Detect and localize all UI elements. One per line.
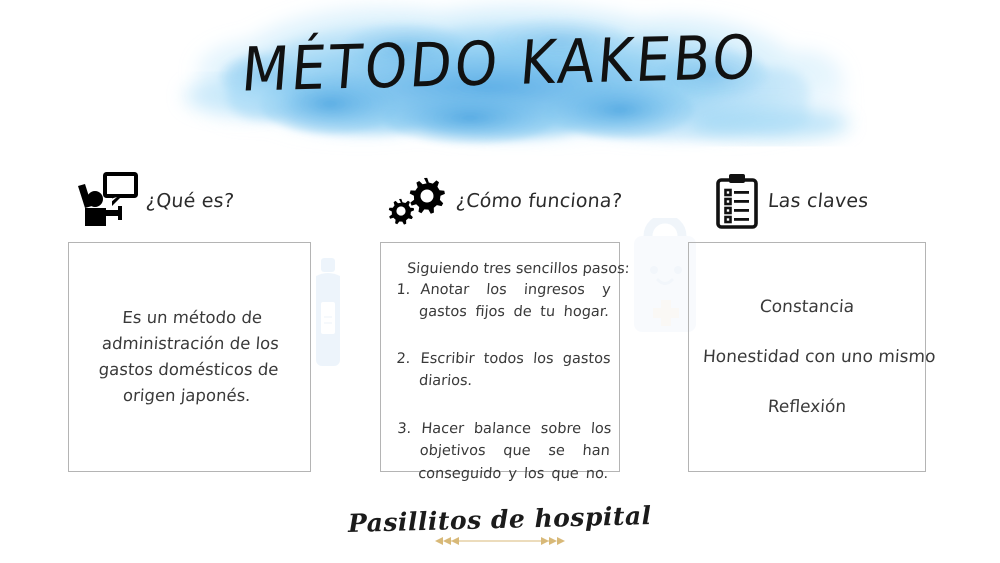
steps-list: Anotar los ingresos y gastos fijos de tu… <box>393 279 609 508</box>
logo-divider-ornament <box>0 535 1000 547</box>
brand-name: Pasillitos de hospital <box>348 501 652 538</box>
key-item: Reflexión <box>702 397 911 417</box>
key-item: Constancia <box>702 297 911 317</box>
header-banner: MÉTODO KAKEBO <box>0 0 1000 160</box>
column-3-heading: Las claves <box>767 190 869 212</box>
page-title-text: MÉTODO KAKEBO <box>239 22 761 105</box>
step-item: Escribir todos los gastos diarios. <box>391 348 612 415</box>
step-text: Anotar los ingresos y gastos fijos de tu… <box>417 279 612 346</box>
column-2-panel: Siguiendo tres sencillos pasos: Anotar l… <box>380 242 620 472</box>
column-2-heading: ¿Cómo funciona? <box>455 190 623 212</box>
key-item: Honestidad con uno mismo <box>702 347 911 367</box>
person-speech-bubble-icon <box>72 172 138 230</box>
column-las-claves: Las claves Constancia Honestidad con uno… <box>688 160 926 472</box>
column-1-heading: ¿Qué es? <box>145 190 235 212</box>
gold-flourish-icon <box>405 535 595 547</box>
column-1-header: ¿Qué es? <box>68 160 311 242</box>
infographic-page: { "header": { "title": "MÉTODO KAKEBO", … <box>0 0 1000 563</box>
column-que-es: ¿Qué es? Es un método de administración … <box>68 160 311 472</box>
clipboard-checklist-icon <box>714 173 760 229</box>
column-3-panel: Constancia Honestidad con uno mismo Refl… <box>688 242 926 472</box>
content-columns: ¿Qué es? Es un método de administración … <box>0 160 1000 490</box>
column-como-funciona: ¿Cómo funciona? Siguiendo tres sencillos… <box>380 160 620 472</box>
column-2-lead: Siguiendo tres sencillos pasos: <box>392 261 609 277</box>
column-1-body: Es un método de administración de los ga… <box>79 305 299 409</box>
column-1-panel: Es un método de administración de los ga… <box>68 242 311 472</box>
keys-list: Constancia Honestidad con uno mismo Refl… <box>703 297 911 417</box>
column-3-header: Las claves <box>688 160 926 242</box>
step-item: Hacer balance sobre los objetivos que se… <box>390 418 612 508</box>
step-text: Hacer balance sobre los objetivos que se… <box>416 418 612 508</box>
step-text: Escribir todos los gastos diarios. <box>417 348 612 415</box>
column-2-header: ¿Cómo funciona? <box>380 160 620 242</box>
footer-logo: Pasillitos de hospital <box>0 505 1000 547</box>
step-item: Anotar los ingresos y gastos fijos de tu… <box>391 279 612 346</box>
gears-icon <box>382 172 448 230</box>
